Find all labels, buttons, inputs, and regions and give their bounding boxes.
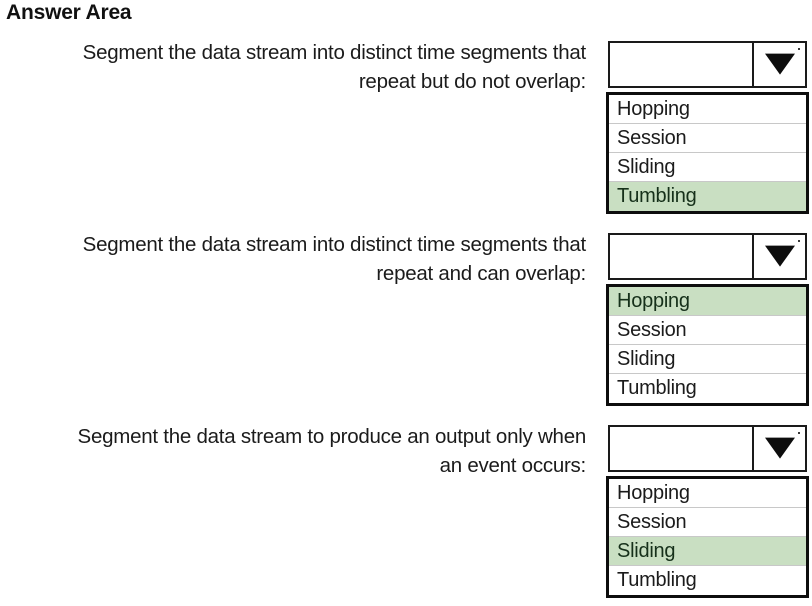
list-item[interactable]: Hopping xyxy=(609,479,806,508)
list-item[interactable]: Session xyxy=(609,124,806,153)
list-item-selected[interactable]: Hopping xyxy=(609,287,806,316)
dropdown-3[interactable] xyxy=(608,425,807,472)
arrow-marker-dot-icon xyxy=(798,240,800,242)
chevron-down-icon xyxy=(765,437,795,458)
list-item[interactable]: Sliding xyxy=(609,153,806,182)
list-item[interactable]: Tumbling xyxy=(609,566,806,595)
dropdown-1-value[interactable] xyxy=(610,43,752,86)
dropdown-1-option-list[interactable]: Hopping Session Sliding Tumbling xyxy=(606,92,809,214)
list-item-selected[interactable]: Tumbling xyxy=(609,182,806,211)
dropdown-1[interactable] xyxy=(608,41,807,88)
arrow-marker-dot-icon xyxy=(798,432,800,434)
arrow-marker-dot-icon xyxy=(798,48,800,50)
chevron-down-icon xyxy=(765,245,795,266)
list-item[interactable]: Session xyxy=(609,316,806,345)
question-label-1: Segment the data stream into distinct ti… xyxy=(60,38,586,96)
list-item[interactable]: Session xyxy=(609,508,806,537)
dropdown-3-value[interactable] xyxy=(610,427,752,470)
question-label-2: Segment the data stream into distinct ti… xyxy=(60,230,586,288)
dropdown-2-value[interactable] xyxy=(610,235,752,278)
list-item-selected[interactable]: Sliding xyxy=(609,537,806,566)
dropdown-3-option-list[interactable]: Hopping Session Sliding Tumbling xyxy=(606,476,809,598)
dropdown-2[interactable] xyxy=(608,233,807,280)
page-title: Answer Area xyxy=(6,0,131,26)
dropdown-3-toggle[interactable] xyxy=(752,427,805,470)
dropdown-1-toggle[interactable] xyxy=(752,43,805,86)
dropdown-2-option-list[interactable]: Hopping Session Sliding Tumbling xyxy=(606,284,809,406)
list-item[interactable]: Tumbling xyxy=(609,374,806,403)
list-item[interactable]: Sliding xyxy=(609,345,806,374)
dropdown-2-toggle[interactable] xyxy=(752,235,805,278)
chevron-down-icon xyxy=(765,53,795,74)
question-label-3: Segment the data stream to produce an ou… xyxy=(60,422,586,480)
list-item[interactable]: Hopping xyxy=(609,95,806,124)
